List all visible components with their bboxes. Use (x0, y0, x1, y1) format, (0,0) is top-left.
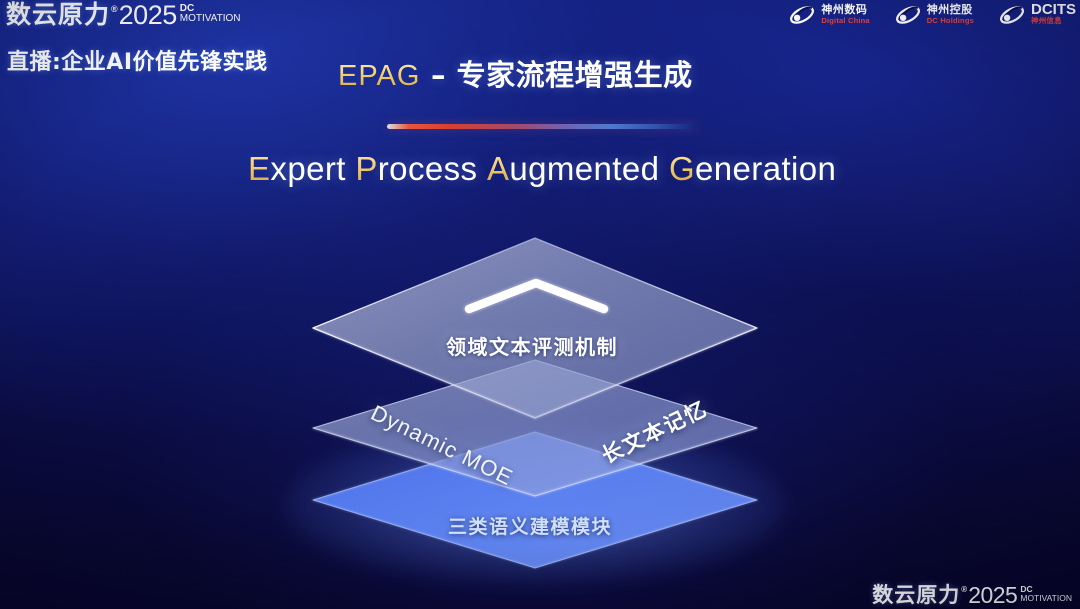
brand-logo: 数云原力 ® 2025 DC MOTIVATION (6, 2, 240, 29)
partner-text-digital-china: 神州数码 Digital China (821, 4, 869, 26)
footer-brand-logo: 数云原力 ® 2025 DC MOTIVATION (872, 584, 1072, 607)
subtitle-word-expert: Expert (248, 150, 346, 187)
partner-text-dc-holdings: 神州控股 DC Holdings (927, 4, 974, 26)
partner-logo-dcits[interactable]: DCITS 神州信息 (998, 3, 1076, 27)
footer-brand-dc-line2: MOTIVATION (1020, 594, 1072, 603)
chevron-up-icon (469, 283, 604, 309)
brand-dc-line2: MOTIVATION (180, 14, 241, 24)
partner-name-en: DC Holdings (927, 15, 974, 26)
partner-name-cn: 神州数码 (821, 4, 869, 15)
bottom-plate-glow (285, 425, 785, 585)
partner-name-cn: 神州控股 (927, 4, 974, 15)
page-title-chinese: 专家流程增强生成 (457, 58, 693, 92)
layer-plate-top[interactable] (313, 238, 757, 418)
subtitle-rest: rocess (378, 150, 478, 187)
brand-year: 2025 (119, 2, 177, 29)
layer-label-top[interactable]: 领域文本评测机制 (446, 331, 618, 360)
page-subtitle: Expert Process Augmented Generation (248, 150, 836, 188)
footer-brand-year: 2025 (968, 584, 1017, 607)
page-title: EPAG – 专家流程增强生成 (338, 52, 693, 94)
subtitle-word-generation: Generation (669, 150, 836, 187)
partner-logo-digital-china[interactable]: 神州数码 Digital China (788, 3, 869, 27)
subtitle-word-process: Process (355, 150, 477, 187)
layer-label-bottom[interactable]: 三类语义建模模块 (448, 512, 612, 539)
footer-brand-registered-mark: ® (961, 585, 967, 595)
subtitle-cap: P (355, 150, 377, 187)
subtitle-rest: ugmented (509, 150, 659, 187)
layer-plate-bottom[interactable] (313, 432, 757, 568)
subtitle-cap: E (248, 150, 270, 187)
subtitle-cap: G (669, 150, 695, 187)
slide-canvas: 领域文本评测机制 Dynamic MOE 长文本记忆 三类语义建模模块 数云原力… (0, 0, 1080, 609)
partner-name-en: Digital China (821, 15, 869, 26)
subtitle-cap: A (487, 150, 509, 187)
brand-dc-motivation: DC MOTIVATION (180, 4, 241, 24)
subtitle-word-augmented: Augmented (487, 150, 659, 187)
dc-holdings-swirl-icon (894, 3, 922, 27)
brand-registered-mark: ® (111, 3, 118, 15)
page-title-separator: – (420, 58, 456, 92)
layer-label-dynamic-moe[interactable]: Dynamic MOE (367, 400, 518, 491)
footer-brand-name-cn: 数云原力 (872, 584, 960, 606)
live-session-label: 直播:企业AI价值先锋实践 (7, 44, 268, 76)
title-divider (387, 124, 697, 129)
subtitle-rest: eneration (695, 150, 836, 187)
page-title-acronym: EPAG (338, 60, 420, 92)
footer-brand-dc-motivation: DC MOTIVATION (1020, 585, 1072, 603)
brand-name-cn: 数云原力 (6, 2, 110, 28)
partner-logo-group: 神州数码 Digital China 神州控股 DC Holdings (788, 3, 1076, 27)
partner-name-en: DCITS (1031, 4, 1076, 15)
layer-label-long-text-memory[interactable]: 长文本记忆 (596, 393, 713, 470)
subtitle-rest: xpert (270, 150, 345, 187)
digital-china-swirl-icon (788, 3, 816, 27)
dcits-swirl-icon (998, 3, 1026, 27)
partner-text-dcits: DCITS 神州信息 (1031, 4, 1076, 26)
partner-logo-dc-holdings[interactable]: 神州控股 DC Holdings (894, 3, 974, 27)
